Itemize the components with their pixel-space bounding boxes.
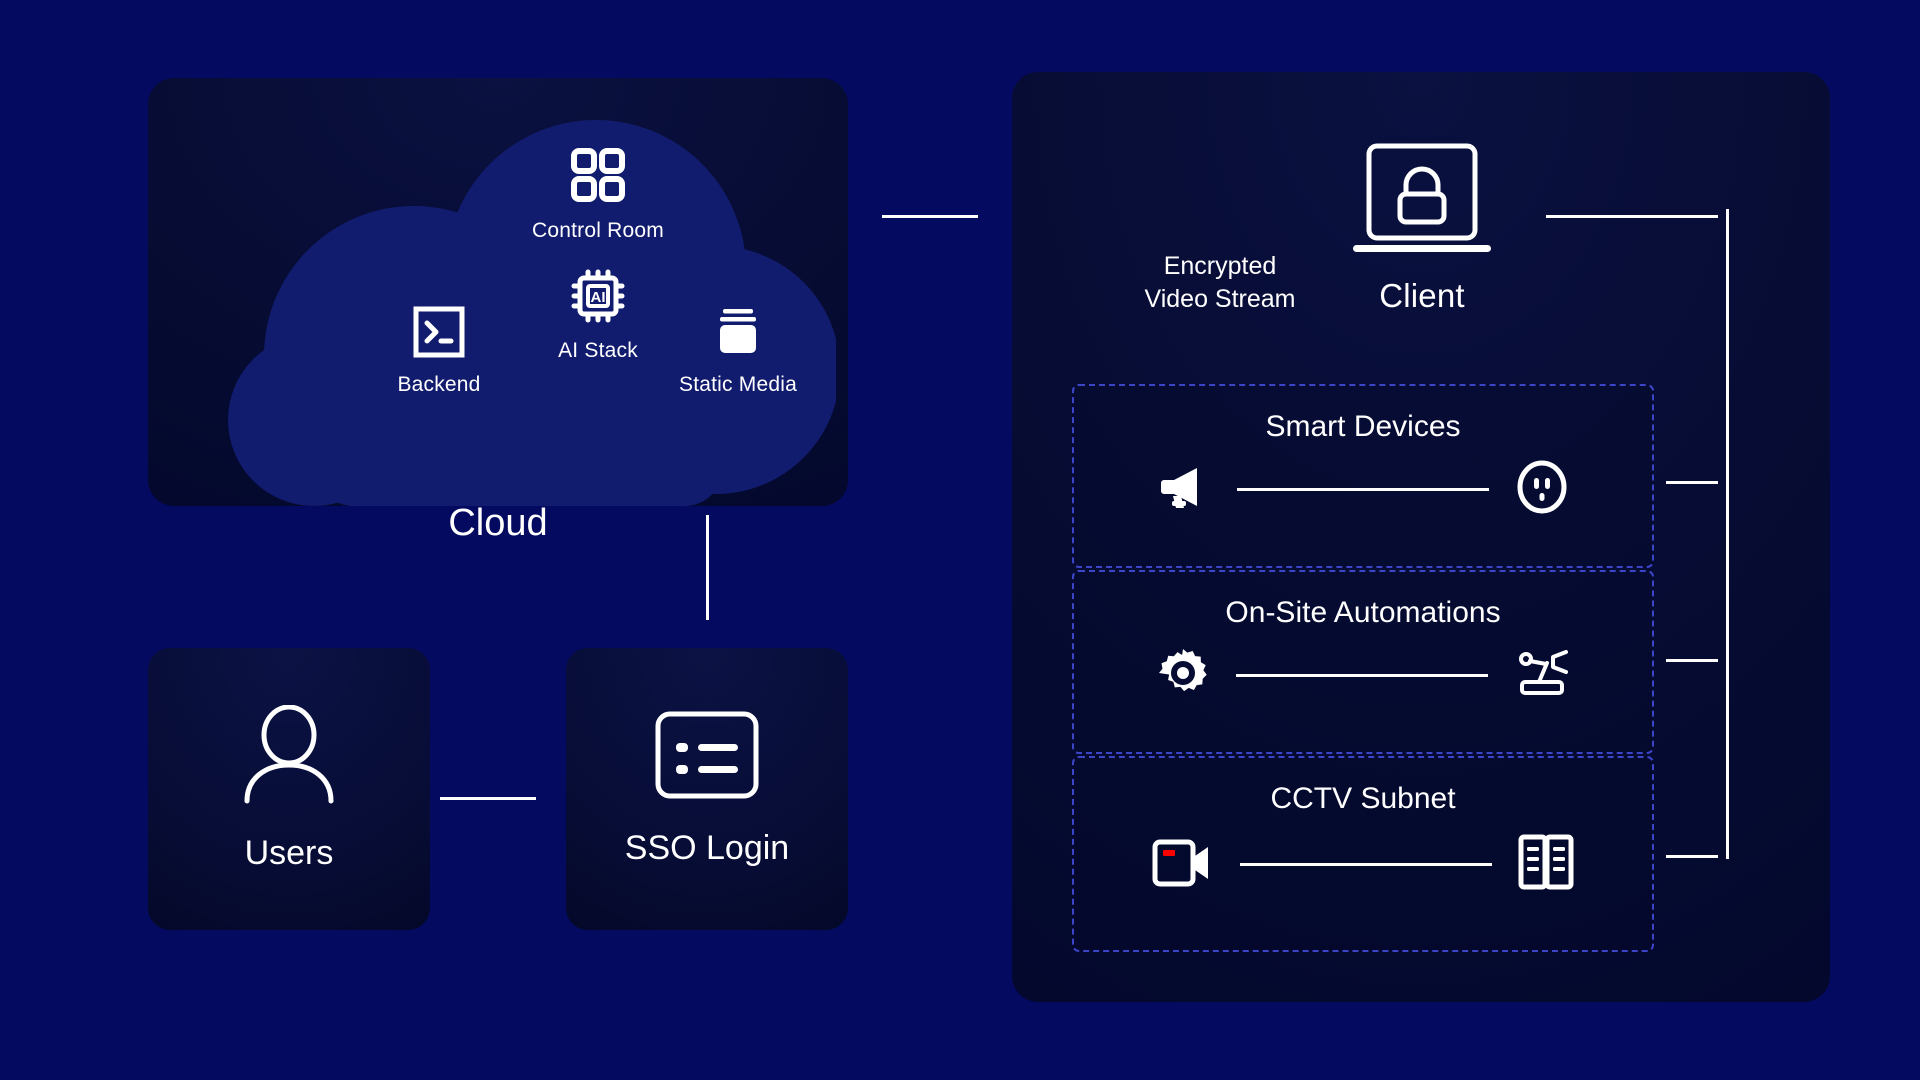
user-avatar-icon xyxy=(241,705,337,810)
grid-four-squares-icon xyxy=(569,146,627,209)
node-client[interactable]: Client xyxy=(1302,142,1542,315)
subnet-title-smart-devices: Smart Devices xyxy=(1074,410,1652,444)
svg-text:AI: AI xyxy=(591,289,606,306)
node-backend[interactable]: Backend xyxy=(344,306,534,397)
power-outlet-icon xyxy=(1515,460,1569,519)
automations-bus-stub xyxy=(1666,659,1718,662)
subnet-smart-devices[interactable]: Smart Devices xyxy=(1072,384,1654,568)
subnet-title-cctv: CCTV Subnet xyxy=(1074,782,1652,816)
ai-chip-icon: AI xyxy=(570,268,626,329)
cctv-internal-link xyxy=(1240,863,1492,866)
subnet-onsite-automations[interactable]: On-Site Automations xyxy=(1072,570,1654,754)
subnet-title-onsite-automations: On-Site Automations xyxy=(1074,596,1652,630)
gear-icon xyxy=(1156,646,1210,705)
server-rack-icon xyxy=(1518,834,1574,895)
automations-internal-link xyxy=(1236,674,1488,677)
robot-arm-icon xyxy=(1514,646,1570,705)
sso-login-card[interactable]: SSO Login xyxy=(566,648,848,930)
megaphone-icon xyxy=(1157,460,1211,519)
site-vertical-bus xyxy=(1726,209,1729,859)
cloud-panel: Control Room AI AI Stack xyxy=(148,78,848,506)
node-label-ai-stack: AI Stack xyxy=(558,339,638,363)
cloud-to-site-link xyxy=(882,215,978,218)
video-camera-icon xyxy=(1152,836,1214,893)
subnet-cctv[interactable]: CCTV Subnet xyxy=(1072,756,1654,952)
cloud-to-sso-link xyxy=(706,515,709,620)
login-form-icon xyxy=(654,710,760,805)
node-control-room[interactable]: Control Room xyxy=(498,146,698,243)
cctv-bus-stub xyxy=(1666,855,1718,858)
diagram-canvas: Control Room AI AI Stack xyxy=(0,0,1920,1080)
laptop-lock-icon xyxy=(1349,142,1495,265)
users-card[interactable]: Users xyxy=(148,648,430,930)
node-label-backend: Backend xyxy=(397,373,480,397)
cloud-panel-title: Cloud xyxy=(448,502,547,544)
node-label-client: Client xyxy=(1379,277,1465,315)
client-bus-stub xyxy=(1546,215,1718,218)
sso-card-label: SSO Login xyxy=(625,829,789,868)
node-static-media[interactable]: Static Media xyxy=(638,306,838,397)
site-panel: Encrypted Video Stream Client Smart Devi… xyxy=(1012,72,1830,1002)
users-card-label: Users xyxy=(245,834,334,873)
node-label-static-media: Static Media xyxy=(679,373,797,397)
smart-devices-bus-stub xyxy=(1666,481,1718,484)
smart-devices-internal-link xyxy=(1237,488,1489,491)
terminal-prompt-icon xyxy=(413,306,465,363)
users-to-sso-link xyxy=(440,797,536,800)
media-container-icon xyxy=(712,306,764,363)
node-label-control-room: Control Room xyxy=(532,219,664,243)
